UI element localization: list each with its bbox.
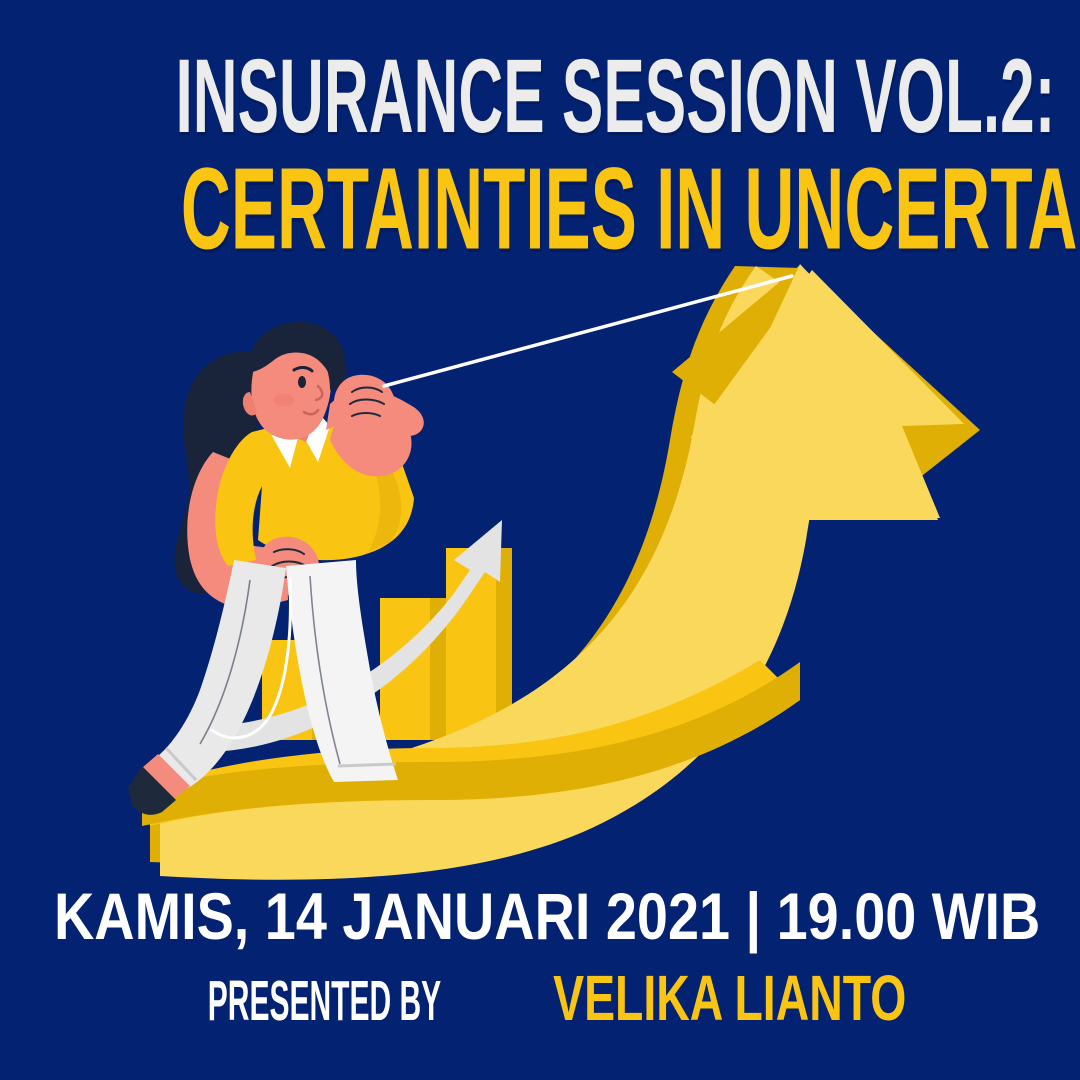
title-line-1: INSURANCE SESSION VOL.2: bbox=[176, 44, 905, 149]
presenter-name: VELIKA LIANTO bbox=[553, 967, 906, 1031]
poster-canvas: INSURANCE SESSION VOL.2: CERTAINTIES IN … bbox=[0, 0, 1080, 1080]
presenter-row: PRESENTED BY VELIKA LIANTO bbox=[0, 973, 1080, 1031]
presented-by-label: PRESENTED BY bbox=[207, 973, 440, 1030]
cheek-blush bbox=[274, 394, 294, 406]
title-line-2: CERTAINTIES IN UNCERTAINTIES bbox=[181, 151, 899, 267]
footer-block: KAMIS, 14 JANUARI 2021 | 19.00 WIB PRESE… bbox=[0, 885, 1080, 1080]
event-datetime: KAMIS, 14 JANUARI 2021 | 19.00 WIB bbox=[54, 885, 1026, 951]
eye bbox=[298, 376, 306, 388]
pants-cuff-front bbox=[338, 764, 396, 766]
